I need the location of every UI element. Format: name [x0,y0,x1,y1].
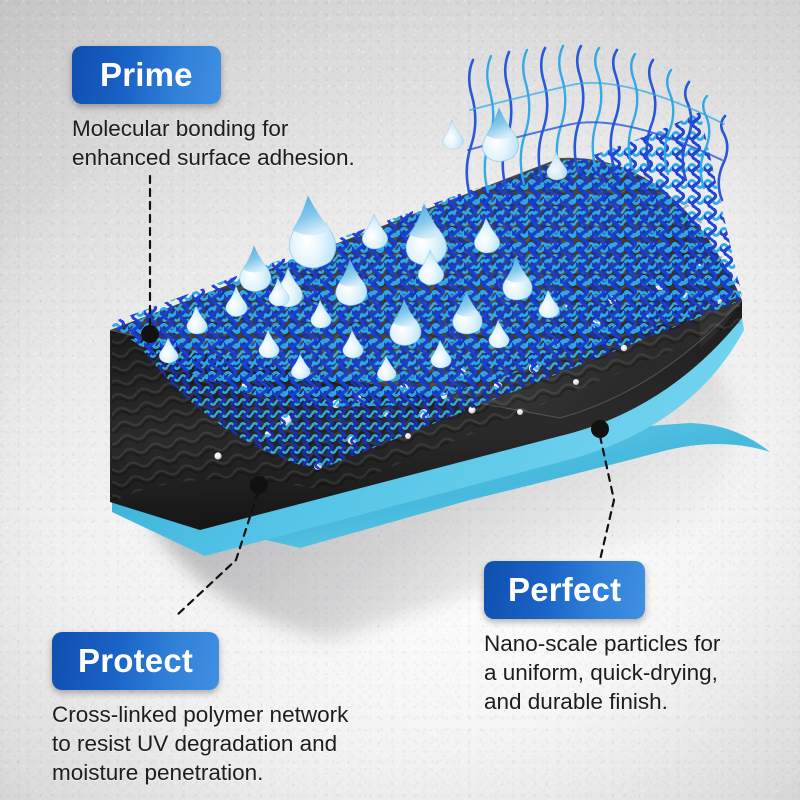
callout-protect: Protect Cross-linked polymer network to … [52,632,348,787]
callout-prime: Prime Molecular bonding for enhanced sur… [72,46,355,172]
droplet [289,196,336,268]
description-prime: Molecular bonding for enhanced surface a… [72,114,355,172]
description-protect: Cross-linked polymer network to resist U… [52,700,348,787]
badge-perfect[interactable]: Perfect [484,561,645,619]
infographic-canvas: Prime Molecular bonding for enhanced sur… [0,0,800,800]
droplet [240,246,271,292]
callout-perfect: Perfect Nano-scale particles for a unifo… [484,561,720,716]
badge-protect[interactable]: Protect [52,632,219,690]
description-perfect: Nano-scale particles for a uniform, quic… [484,629,720,716]
droplet [362,214,388,249]
badge-prime[interactable]: Prime [72,46,221,104]
droplet [483,108,519,162]
